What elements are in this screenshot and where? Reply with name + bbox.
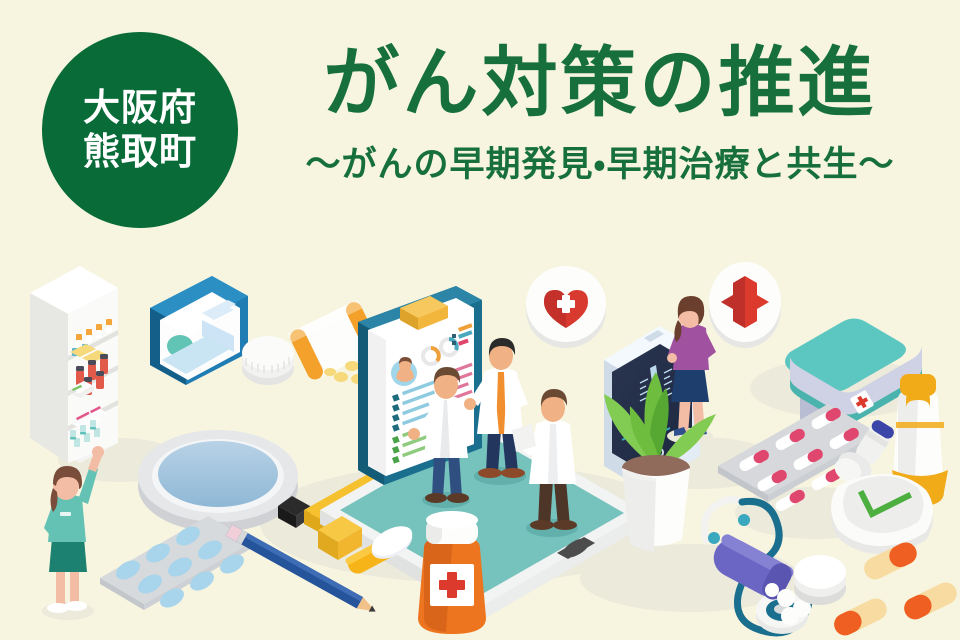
municipality-badge: 大阪府 熊取町 <box>42 32 238 228</box>
pharmacy-shelf <box>30 266 118 463</box>
header: 大阪府 熊取町 がん対策の推進 ～がんの早期発見・早期治療と共生～ <box>0 0 960 250</box>
page-title: がん対策の推進 <box>255 44 945 124</box>
badge-town-label: 熊取町 <box>83 130 197 174</box>
heart-cross-badge <box>526 266 606 348</box>
red-cross-badge <box>709 262 781 348</box>
hero-illustration <box>0 248 960 640</box>
page-subtitle: ～がんの早期発見・早期治療と共生～ <box>255 136 945 187</box>
check-badge <box>831 474 933 554</box>
medicine-jar-red-cross <box>418 511 486 634</box>
badge-prefecture-label: 大阪府 <box>83 86 197 130</box>
woman-raising-hand <box>42 446 104 620</box>
banner: 大阪府 熊取町 がん対策の推進 ～がんの早期発見・早期治療と共生～ <box>0 0 960 640</box>
title-block: がん対策の推進 ～がんの早期発見・早期治療と共生～ <box>255 44 945 187</box>
orange-capsules <box>830 539 960 639</box>
info-window <box>150 276 248 385</box>
